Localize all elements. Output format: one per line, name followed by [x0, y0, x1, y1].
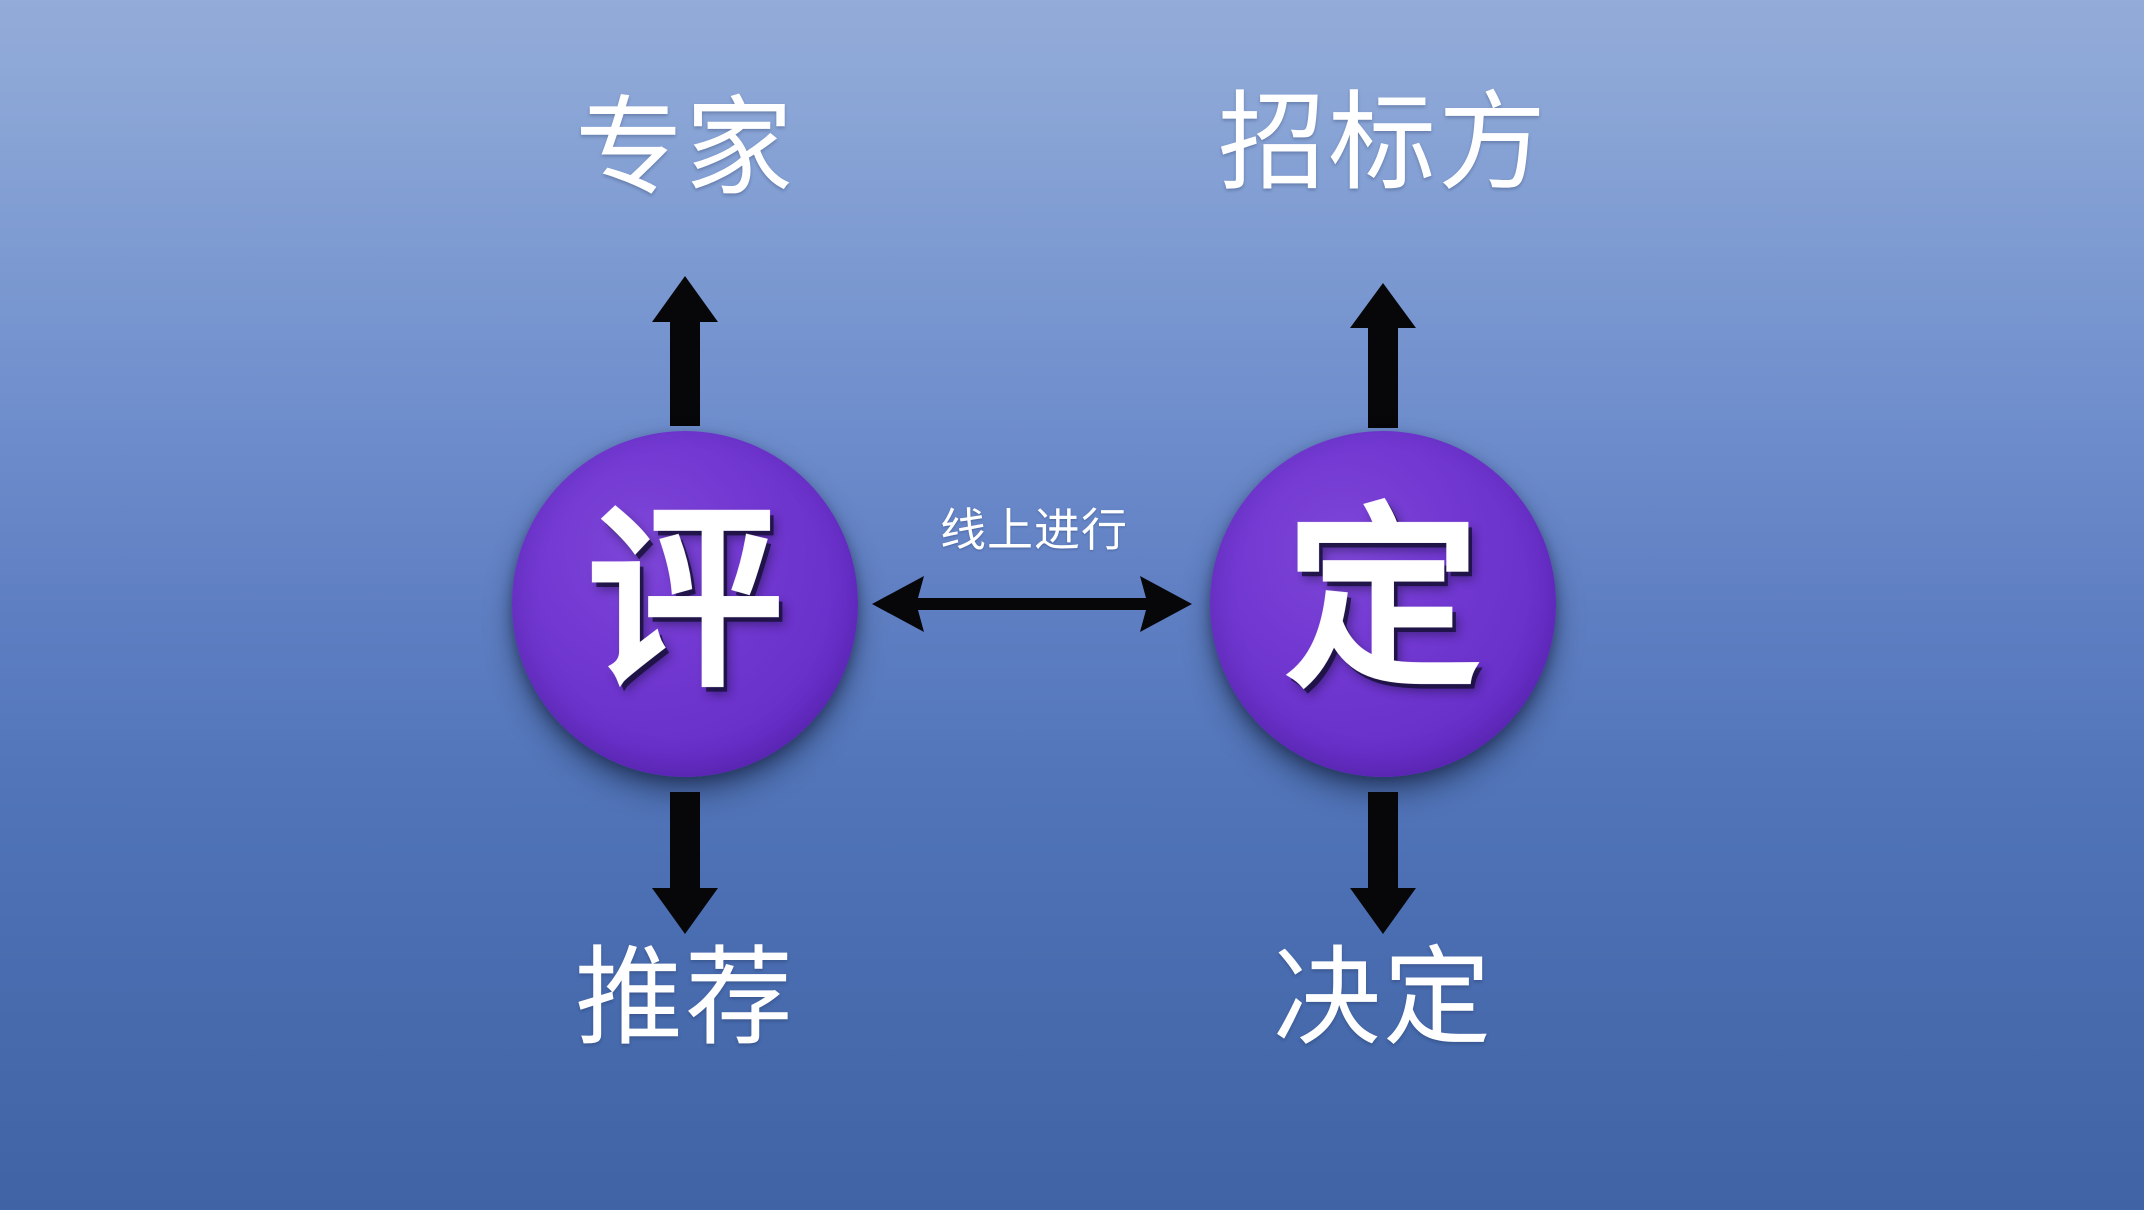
label-expert: 专家 — [575, 96, 795, 204]
diagram-canvas: 专家 招标方 评 定 线上进行 推荐 决定 — [0, 0, 2144, 1210]
node-evaluation-glyph: 评 — [587, 503, 783, 699]
arrow-down-decide-icon — [1348, 792, 1418, 934]
arrow-bidirectional-online-icon — [872, 574, 1192, 634]
arrow-up-tenderer-icon — [1348, 283, 1418, 428]
arrow-up-expert-icon — [650, 276, 720, 426]
label-decide: 决定 — [1273, 946, 1493, 1054]
label-conducted-online: 线上进行 — [940, 508, 1128, 554]
label-recommend: 推荐 — [575, 946, 795, 1054]
label-tenderer: 招标方 — [1218, 91, 1548, 199]
node-award-decision-glyph: 定 — [1285, 503, 1481, 699]
node-evaluation[interactable]: 评 — [512, 431, 858, 777]
node-award-decision[interactable]: 定 — [1210, 431, 1556, 777]
arrow-down-recommend-icon — [650, 792, 720, 934]
